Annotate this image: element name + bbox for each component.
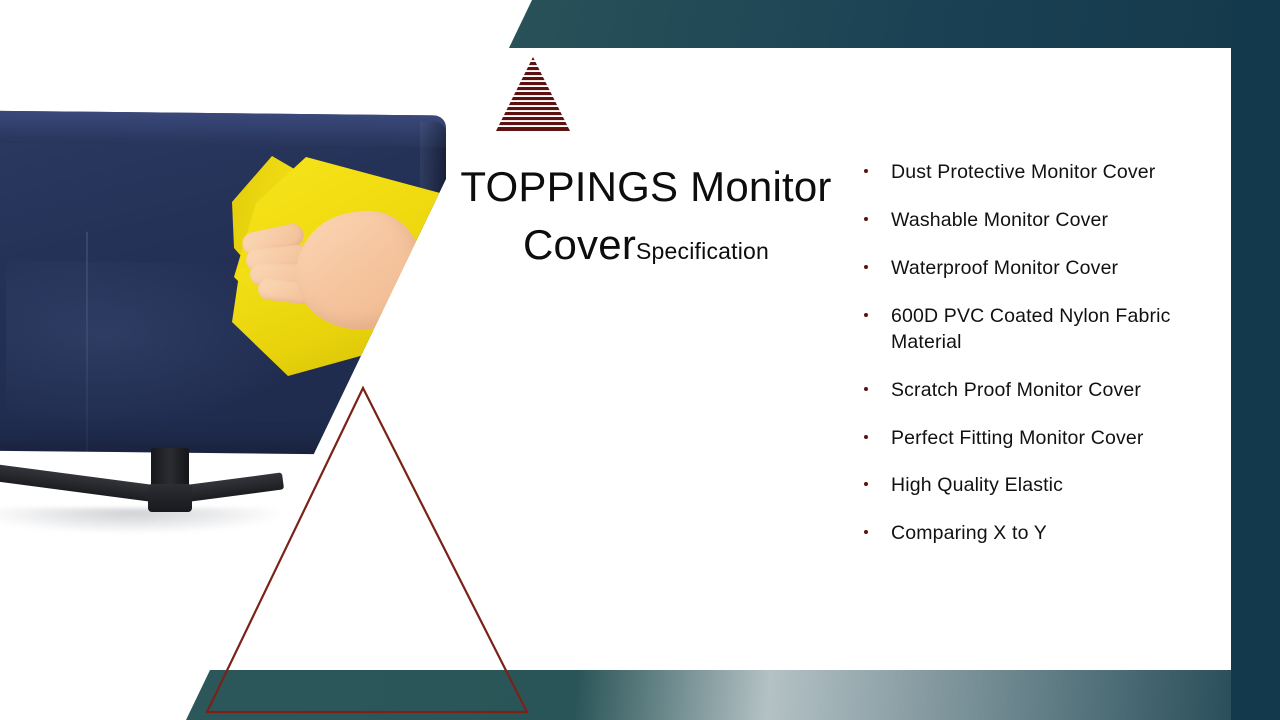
list-item: 600D PVC Coated Nylon Fabric Material	[855, 304, 1205, 356]
list-item: High Quality Elastic	[855, 473, 1205, 499]
list-item: Scratch Proof Monitor Cover	[855, 378, 1205, 404]
bullet-dot-icon	[864, 217, 868, 221]
bullet-dot-icon	[864, 530, 868, 534]
bullet-dot-icon	[864, 265, 868, 269]
monitor-shadow	[0, 508, 286, 534]
list-item: Comparing X to Y	[855, 521, 1205, 547]
list-item-label: Washable Monitor Cover	[891, 209, 1108, 231]
list-item-label: Dust Protective Monitor Cover	[891, 161, 1155, 183]
list-item: Perfect Fitting Monitor Cover	[855, 426, 1205, 452]
list-item: Dust Protective Monitor Cover	[855, 160, 1205, 186]
title-block: TOPPINGS Monitor CoverSpecification	[446, 158, 846, 274]
specification-list: Dust Protective Monitor Cover Washable M…	[855, 160, 1205, 569]
list-item-label: Waterproof Monitor Cover	[891, 257, 1118, 279]
right-teal-band	[1231, 0, 1280, 720]
bullet-dot-icon	[864, 387, 868, 391]
monitor-stand-hub	[148, 484, 192, 512]
bullet-dot-icon	[864, 313, 868, 317]
bullet-dot-icon	[864, 169, 868, 173]
pyramid-logo-icon	[494, 55, 572, 133]
list-item: Washable Monitor Cover	[855, 208, 1205, 234]
bullet-dot-icon	[864, 435, 868, 439]
list-item-label: Comparing X to Y	[891, 522, 1047, 544]
list-item: Waterproof Monitor Cover	[855, 256, 1205, 282]
product-specification-slide: TOPPINGS Monitor CoverSpecification Dust…	[0, 0, 1280, 720]
title-suffix-text: Specification	[636, 238, 769, 264]
list-item-label: Scratch Proof Monitor Cover	[891, 379, 1141, 401]
list-item-label: 600D PVC Coated Nylon Fabric Material	[891, 305, 1171, 353]
list-item-label: High Quality Elastic	[891, 474, 1063, 496]
page-title: TOPPINGS Monitor CoverSpecification	[446, 158, 846, 274]
monitor-cover-crease	[86, 232, 88, 552]
list-item-label: Perfect Fitting Monitor Cover	[891, 427, 1144, 449]
bullet-dot-icon	[864, 482, 868, 486]
bottom-right-corner-fill	[1231, 670, 1280, 720]
